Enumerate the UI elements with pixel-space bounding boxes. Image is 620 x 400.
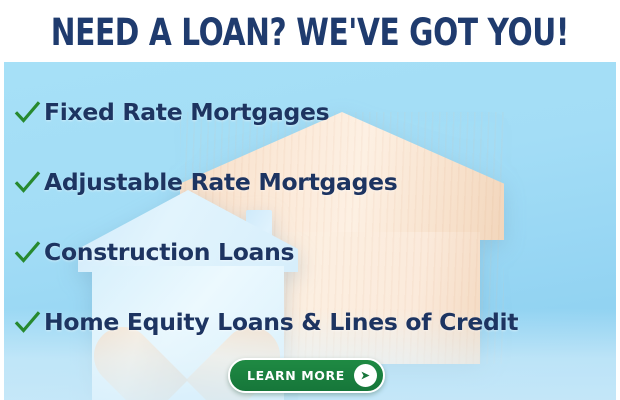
check-icon [12, 238, 42, 268]
list-item: Construction Loans [12, 218, 612, 288]
benefit-label: Construction Loans [44, 241, 294, 265]
headline: Need a loan? We've got you! [51, 14, 569, 51]
check-icon [12, 308, 42, 338]
check-icon [12, 98, 42, 128]
arrow-right-icon [354, 364, 377, 387]
benefit-label: Fixed Rate Mortgages [44, 101, 329, 125]
list-item: Adjustable Rate Mortgages [12, 148, 612, 218]
check-icon [12, 168, 42, 198]
benefit-label: Adjustable Rate Mortgages [44, 171, 397, 195]
list-item: Home Equity Loans & Lines of Credit [12, 288, 612, 358]
benefit-label: Home Equity Loans & Lines of Credit [44, 311, 518, 335]
list-item: Fixed Rate Mortgages [12, 78, 612, 148]
loan-promo-banner: Need a loan? We've got you! [0, 0, 620, 400]
banner-header: Need a loan? We've got you! [0, 0, 620, 62]
banner-body-panel: Fixed Rate Mortgages Adjustable Rate Mor… [4, 62, 616, 400]
benefits-list: Fixed Rate Mortgages Adjustable Rate Mor… [12, 78, 612, 358]
learn-more-label: LEARN MORE [247, 368, 345, 383]
learn-more-button[interactable]: LEARN MORE [228, 358, 385, 393]
